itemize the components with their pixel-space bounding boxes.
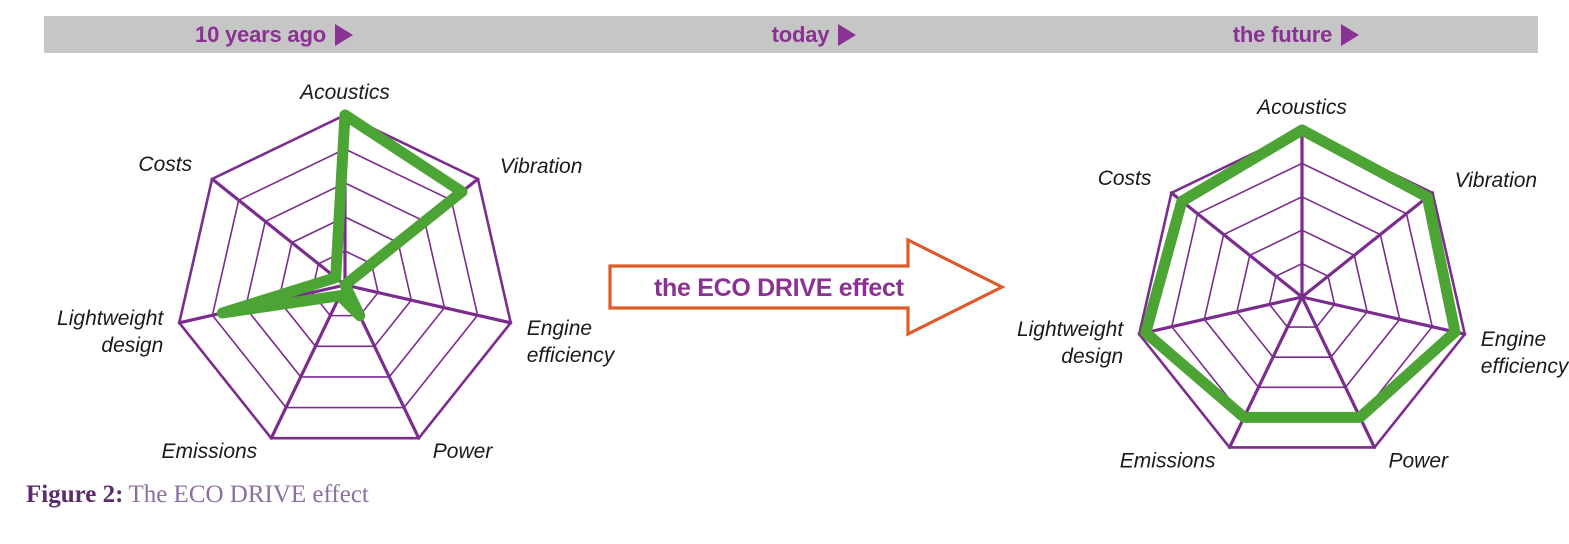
axis-label-vibration: Vibration [500,155,583,178]
radar-left-svg: AcousticsVibrationEngineefficiencyPowerE… [0,60,640,480]
radar-grid [1139,130,1465,447]
axis-label-emissions: Emissions [161,440,257,463]
radar-chart-the-future: AcousticsVibrationEngineefficiencyPowerE… [960,60,1569,490]
timeline-item-10-years-ago[interactable]: 10 years ago [44,16,504,53]
timeline-label: today [772,24,830,46]
figure-caption-text: The ECO DRIVE effect [128,481,368,508]
axis-label-lightweight-design: Lightweightdesign [57,307,164,357]
timeline-bar: 10 years ago today the future [44,16,1538,53]
arrow-label: the ECO DRIVE effect [654,274,905,302]
figure-canvas: 10 years ago today the future AcousticsV… [0,0,1569,544]
eco-drive-arrow: the ECO DRIVE effect [606,222,1016,352]
axis-label-emissions: Emissions [1120,450,1216,473]
timeline-label: 10 years ago [195,24,326,46]
play-triangle-icon [1341,24,1359,46]
radar-right-svg: AcousticsVibrationEngineefficiencyPowerE… [960,60,1569,490]
axis-label-power: Power [433,440,494,463]
axis-label-costs: Costs [138,153,192,176]
axis-label-engine-efficiency: Engineefficiency [1481,328,1569,378]
axis-label-costs: Costs [1098,167,1152,190]
axis-label-power: Power [1389,450,1450,473]
label-clip-mask [26,370,216,400]
radar-series-polygon [1146,130,1455,417]
timeline-label: the future [1233,24,1332,46]
play-triangle-icon [335,24,353,46]
arrow-svg: the ECO DRIVE effect [606,222,1016,352]
axis-label-acoustics: Acoustics [1255,96,1347,119]
axis-label-acoustics: Acoustics [298,81,390,104]
axis-label-vibration: Vibration [1455,169,1538,192]
axis-label-lightweight-design: Lightweightdesign [1017,318,1124,368]
figure-number: Figure 2: [26,481,123,508]
timeline-item-today[interactable]: today [604,16,1024,53]
axis-label-engine-efficiency: Engineefficiency [527,317,616,367]
play-triangle-icon [838,24,856,46]
radar-chart-ten-years-ago: AcousticsVibrationEngineefficiencyPowerE… [0,60,640,480]
figure-caption: Figure 2:The ECO DRIVE effect [26,481,369,509]
timeline-item-the-future[interactable]: the future [1054,16,1538,53]
